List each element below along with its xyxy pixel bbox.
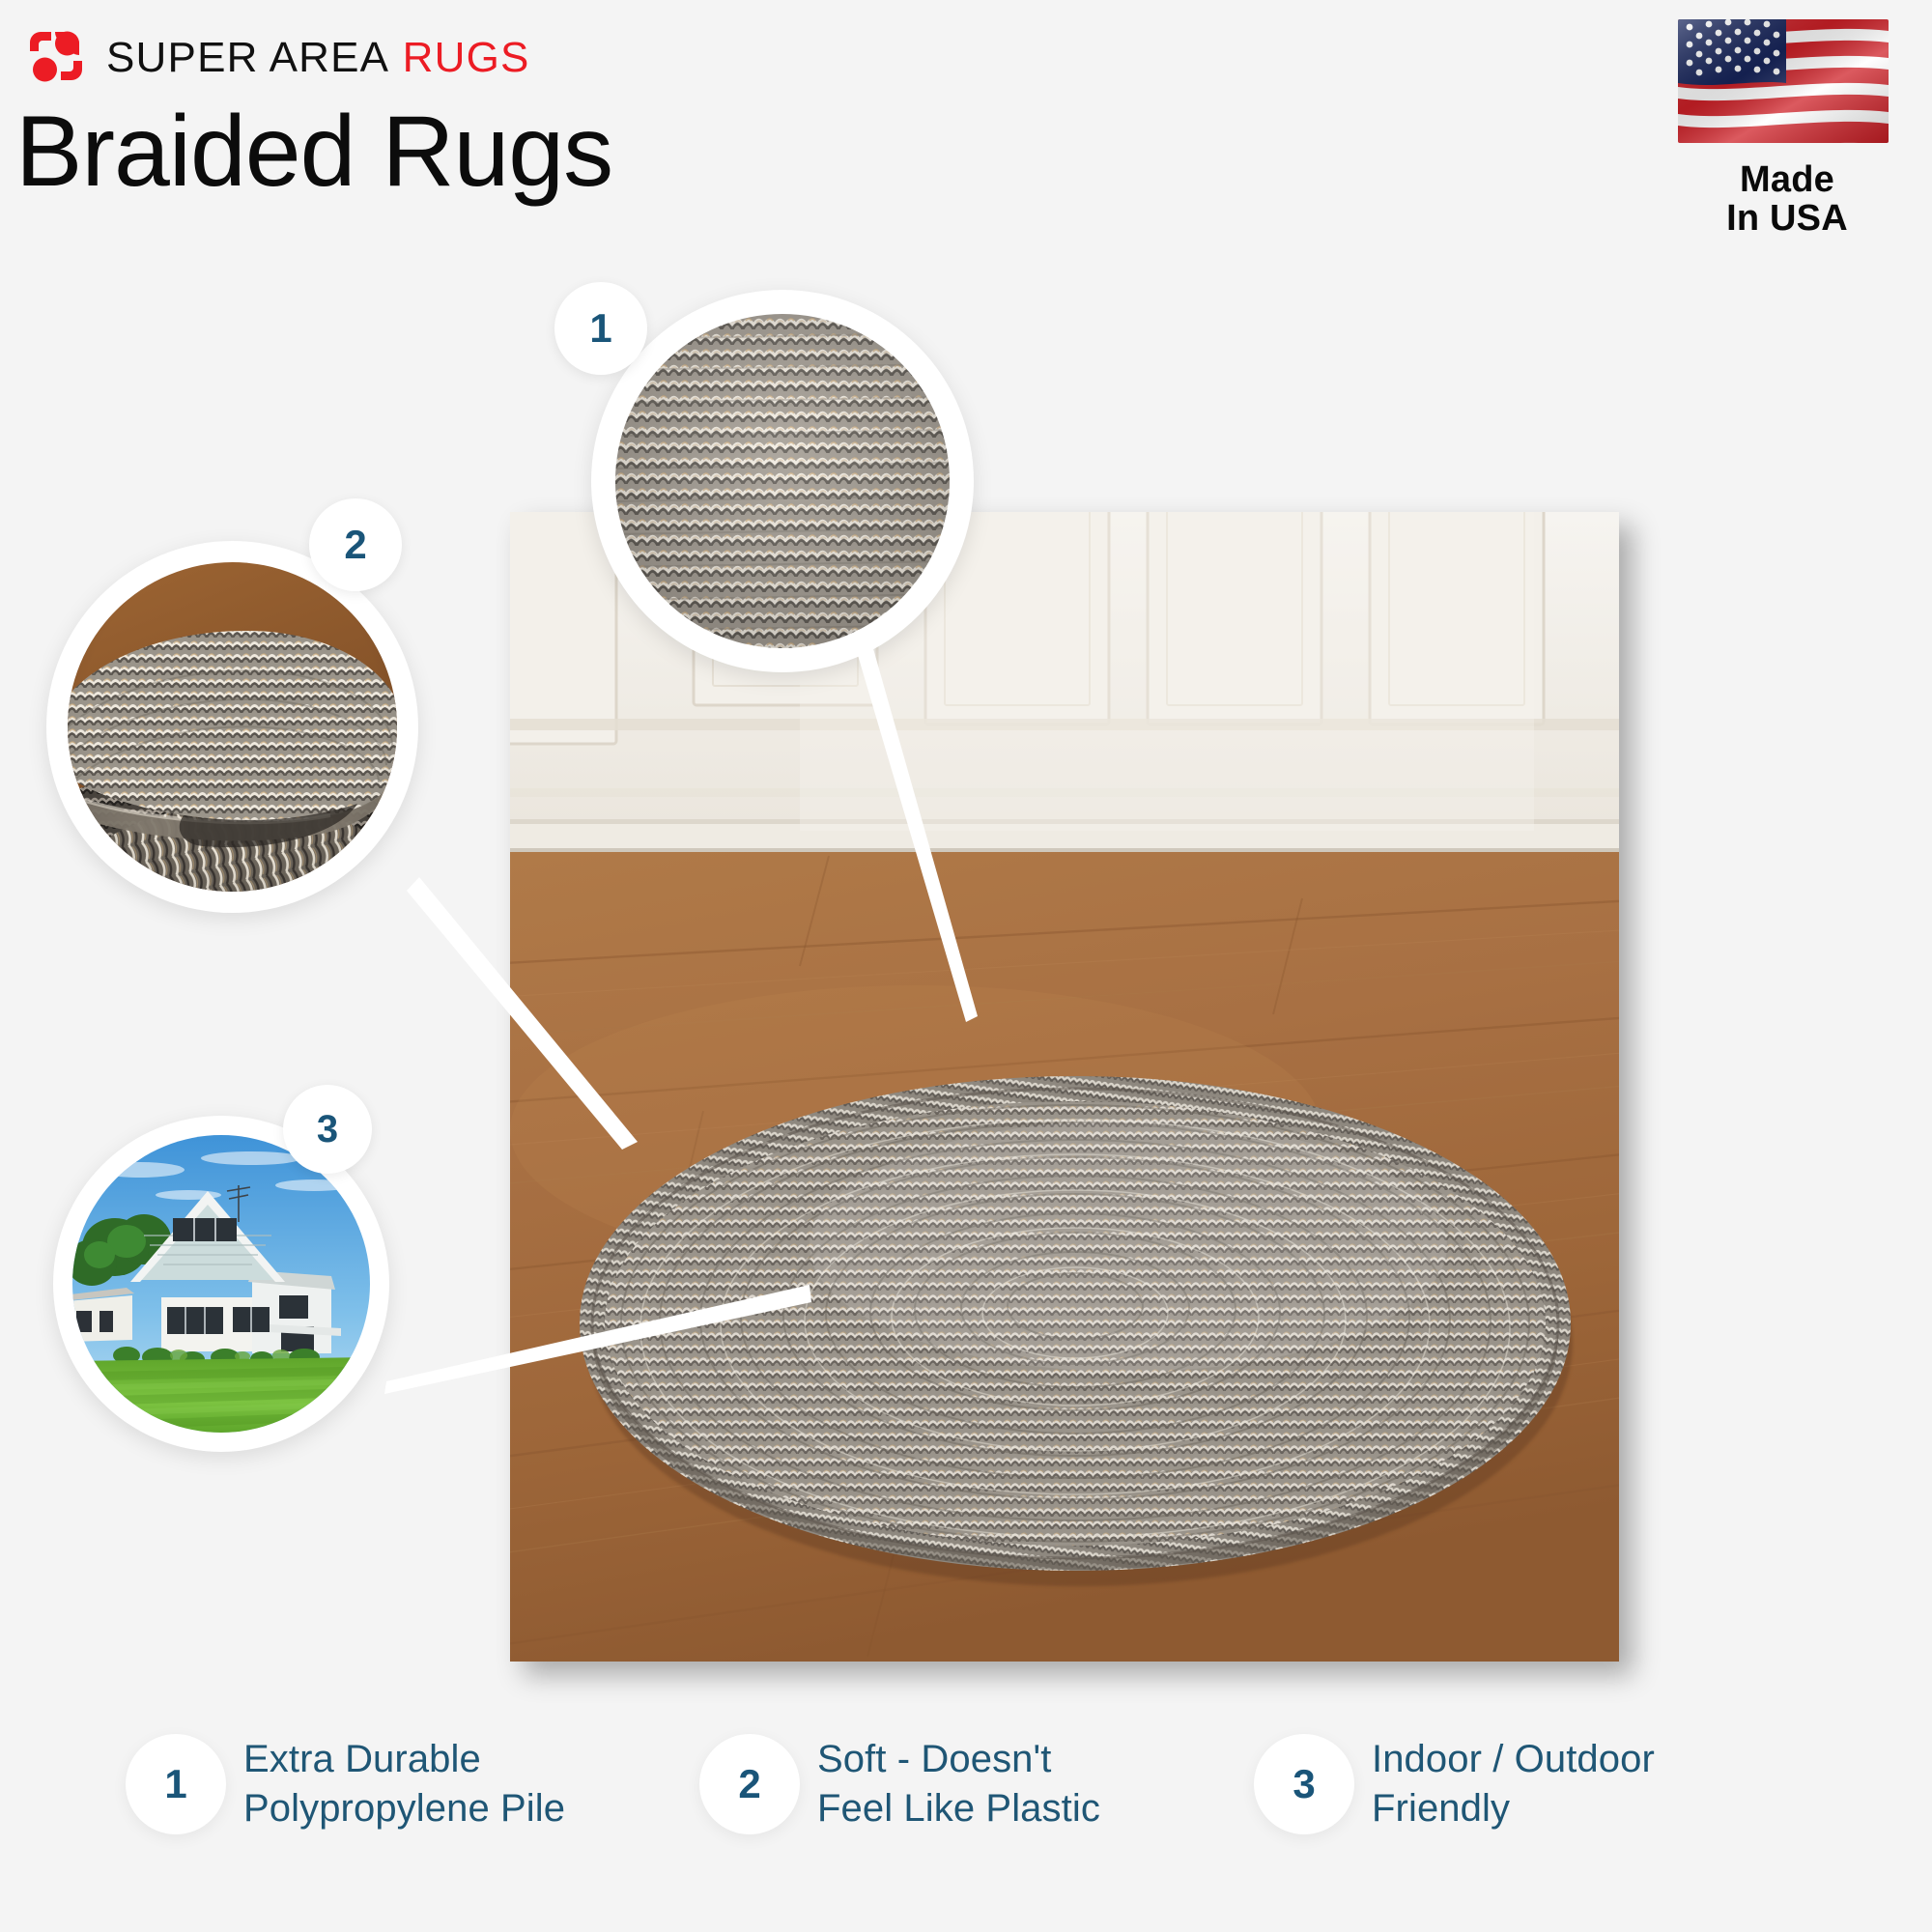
usa-caption-line-2: In USA [1678,199,1896,238]
folded-braided-rug-corner-image [68,562,397,892]
feature-3-number: 3 [1254,1734,1354,1834]
page-title: Braided Rugs [15,97,612,207]
callout-3[interactable]: 3 [53,1116,393,1456]
brand-row: SUPER AREA RUGS [23,25,530,91]
callout-3-number: 3 [283,1085,372,1174]
brand-name: SUPER AREA RUGS [106,37,530,79]
braided-rug-texture-closeup-image [615,314,950,648]
feature-1-label: Extra Durable Polypropylene Pile [243,1735,565,1833]
feature-2-label: Soft - Doesn't Feel Like Plastic [817,1735,1100,1833]
callout-2[interactable]: 2 [46,541,423,918]
usa-flag-icon [1678,19,1889,143]
feature-item-2[interactable]: 2 Soft - Doesn't Feel Like Plastic [699,1734,1221,1834]
feature-list: 1 Extra Durable Polypropylene Pile 2 Sof… [126,1734,1806,1834]
super-area-rugs-logo-icon [23,25,89,91]
feature-1-number: 1 [126,1734,226,1834]
callout-2-number: 2 [309,498,402,591]
product-photo [510,512,1619,1662]
callout-1[interactable]: 1 [591,290,978,676]
feature-item-3[interactable]: 3 Indoor / Outdoor Friendly [1254,1734,1776,1834]
feature-3-label: Indoor / Outdoor Friendly [1372,1735,1655,1833]
callout-2-bubble[interactable] [46,541,418,913]
usa-caption-line-1: Made [1678,160,1896,199]
feature-2-number: 2 [699,1734,800,1834]
brand-word-accent: RUGS [403,34,530,81]
made-in-usa-badge: Made In USA [1678,19,1896,239]
house-exterior-with-lawn-image [72,1135,370,1433]
infographic-canvas: SUPER AREA RUGS Braided Rugs [0,0,1932,1932]
brand-word-primary: SUPER AREA [106,34,389,81]
callout-1-number: 1 [554,282,647,375]
made-in-usa-caption: Made In USA [1678,160,1896,239]
feature-item-1[interactable]: 1 Extra Durable Polypropylene Pile [126,1734,667,1834]
callout-1-bubble[interactable] [591,290,974,672]
